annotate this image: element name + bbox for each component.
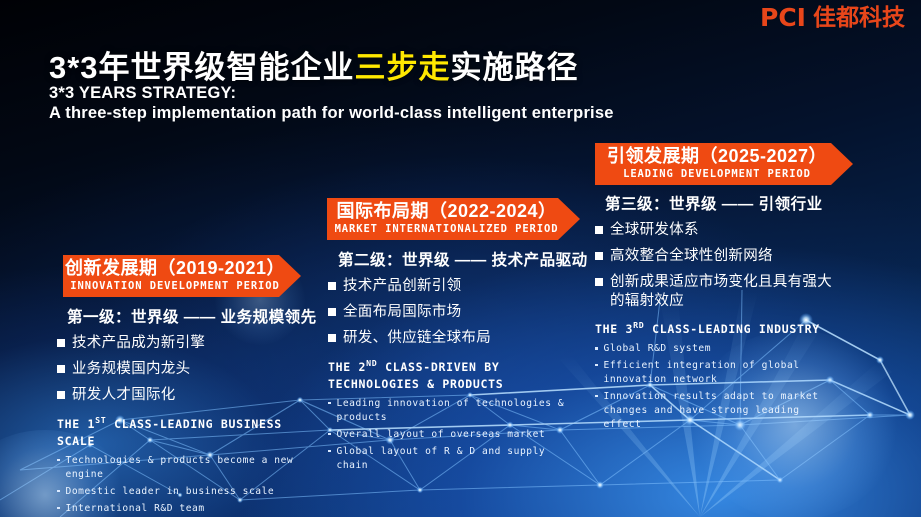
dot-bullet-icon [57,459,60,462]
stage-2-bullet-en: Leading innovation of technologies & pro… [328,397,566,425]
logo-chinese-text: 佳都科技 [813,6,905,29]
page-title-part1: 3*3年世界级智能企业 [49,50,355,85]
stage-1-bullet-cn-text: 研发人才国际化 [72,386,176,405]
stage-3-bullet-cn: 创新成果适应市场变化且具有强大的辐射效应 [595,273,840,311]
dot-bullet-icon [57,490,60,493]
stage-1-en-heading-pre: THE 1 [57,416,95,430]
stage-2-bullet-en: Overall layout of overseas market [328,428,566,442]
stage-2-bullet-en-text: Overall layout of overseas market [337,428,546,442]
stage-1-level: 第一级：世界级 —— 业务规模领先 [57,305,307,327]
stage-banner-3-title: 引领发展期（2025-2027） [607,146,827,167]
stage-2-en-heading-pre: THE 2 [328,359,366,373]
stage-2-en-heading: THE 2ND CLASS-DRIVEN BY TECHNOLOGIES & P… [328,357,566,394]
page-title-highlight: 三步走 [355,50,451,85]
square-bullet-icon [328,334,336,342]
stage-2-bullet-cn-text: 全面布局国际市场 [343,303,461,322]
stage-2-bullet-en-text: Global layout of R & D and supply chain [337,445,567,473]
page-subtitle-line1: 3*3 YEARS STRATEGY: [49,84,236,103]
stage-1-en-heading: THE 1ST CLASS-LEADING BUSINESS SCALE [57,414,307,451]
stage-3-bullet-en-text: Innovation results adapt to market chang… [604,390,841,432]
page-subtitle-line2: A three-step implementation path for wor… [49,104,614,123]
stage-1-bullet-en: International R&D team [57,502,307,516]
dot-bullet-icon [328,433,331,436]
stage-2-level: 第二级：世界级 —— 技术产品驱动 [328,248,566,270]
stage-1-bullet-en: Domestic leader in business scale [57,485,307,499]
stage-1-bullet-en-text: Domestic leader in business scale [66,485,275,499]
stage-3-bullet-en: Efficient integration of global innovati… [595,359,840,387]
stage-card-2: 第二级：世界级 —— 技术产品驱动 技术产品创新引领 全面布局国际市场 研发、供… [328,248,566,476]
stage-3-en-heading-post: CLASS-LEADING INDUSTRY [644,322,819,336]
stage-banner-1-title: 创新发展期（2019-2021） [65,258,285,279]
stage-3-bullet-en-text: Efficient integration of global innovati… [604,359,841,387]
stage-1-bullet-en-text: Technologies & products become a new eng… [66,454,308,482]
dot-bullet-icon [595,395,598,398]
stage-3-en-heading-sup: RD [633,320,644,330]
page-title-chinese: 3*3年世界级智能企业三步走实施路径 [49,42,579,87]
square-bullet-icon [57,365,65,373]
slide-canvas: PCI 佳都科技 3*3年世界级智能企业三步走实施路径 3*3 YEARS ST… [0,0,921,517]
stage-card-1: 第一级：世界级 —— 业务规模领先 技术产品成为新引擎 业务规模国内龙头 研发人… [57,305,307,517]
stage-3-bullet-cn: 全球研发体系 [595,221,840,240]
stage-1-bullet-en: Technologies & products become a new eng… [57,454,307,482]
stage-2-en-heading-sup: ND [366,358,377,368]
dot-bullet-icon [595,364,598,367]
stage-1-bullet-cn: 业务规模国内龙头 [57,360,307,379]
stage-banner-3[interactable]: 引领发展期（2025-2027） LEADING DEVELOPMENT PER… [595,143,853,185]
stage-2-bullet-cn: 全面布局国际市场 [328,303,566,322]
square-bullet-icon [328,308,336,316]
stage-1-bullet-cn: 研发人才国际化 [57,386,307,405]
square-bullet-icon [595,226,603,234]
stage-3-bullet-cn-text: 高效整合全球性创新网络 [610,247,773,266]
stage-2-bullet-en-text: Leading innovation of technologies & pro… [337,397,567,425]
square-bullet-icon [57,339,65,347]
dot-bullet-icon [328,450,331,453]
stage-3-bullet-en-text: Global R&D system [604,342,712,356]
stage-3-bullet-cn-text: 全球研发体系 [610,221,699,240]
stage-banner-1-subtitle: INNOVATION DEVELOPMENT PERIOD [70,280,279,293]
stage-2-bullet-en: Global layout of R & D and supply chain [328,445,566,473]
stage-banner-2[interactable]: 国际布局期（2022-2024） MARKET INTERNATIONALIZE… [327,198,580,240]
stage-card-3: 第三级：世界级 —— 引领行业 全球研发体系 高效整合全球性创新网络 创新成果适… [595,192,840,434]
square-bullet-icon [595,252,603,260]
stage-1-bullet-cn: 技术产品成为新引擎 [57,334,307,353]
stage-2-bullet-cn-text: 研发、供应链全球布局 [343,329,491,348]
dot-bullet-icon [595,347,598,350]
stage-3-bullet-en: Innovation results adapt to market chang… [595,390,840,432]
stage-1-en-heading-sup: ST [95,415,106,425]
stage-1-bullet-cn-text: 技术产品成为新引擎 [72,334,205,353]
stage-3-en-heading-pre: THE 3 [595,322,633,336]
stage-1-bullet-cn-text: 业务规模国内龙头 [72,360,190,379]
stage-1-bullet-en-text: International R&D team [66,502,205,516]
stage-2-bullet-cn: 技术产品创新引领 [328,277,566,296]
stage-3-en-heading: THE 3RD CLASS-LEADING INDUSTRY [595,319,840,339]
brand-logo: PCI 佳都科技 [760,5,905,30]
square-bullet-icon [595,278,603,286]
stage-3-bullet-cn-text: 创新成果适应市场变化且具有强大的辐射效应 [610,273,840,311]
stage-2-bullet-cn-text: 技术产品创新引领 [343,277,461,296]
stage-3-level: 第三级：世界级 —— 引领行业 [595,192,840,214]
stage-banner-1[interactable]: 创新发展期（2019-2021） INNOVATION DEVELOPMENT … [63,255,301,297]
stage-banner-2-title: 国际布局期（2022-2024） [336,201,556,222]
stage-3-bullet-en: Global R&D system [595,342,840,356]
dot-bullet-icon [57,507,60,510]
logo-mark-text: PCI [760,5,806,30]
stage-banner-3-subtitle: LEADING DEVELOPMENT PERIOD [623,168,811,181]
dot-bullet-icon [328,402,331,405]
stage-2-bullet-cn: 研发、供应链全球布局 [328,329,566,348]
stage-banner-2-subtitle: MARKET INTERNATIONALIZED PERIOD [335,223,559,236]
square-bullet-icon [328,282,336,290]
page-title-part2: 实施路径 [451,50,579,85]
square-bullet-icon [57,391,65,399]
stage-3-bullet-cn: 高效整合全球性创新网络 [595,247,840,266]
